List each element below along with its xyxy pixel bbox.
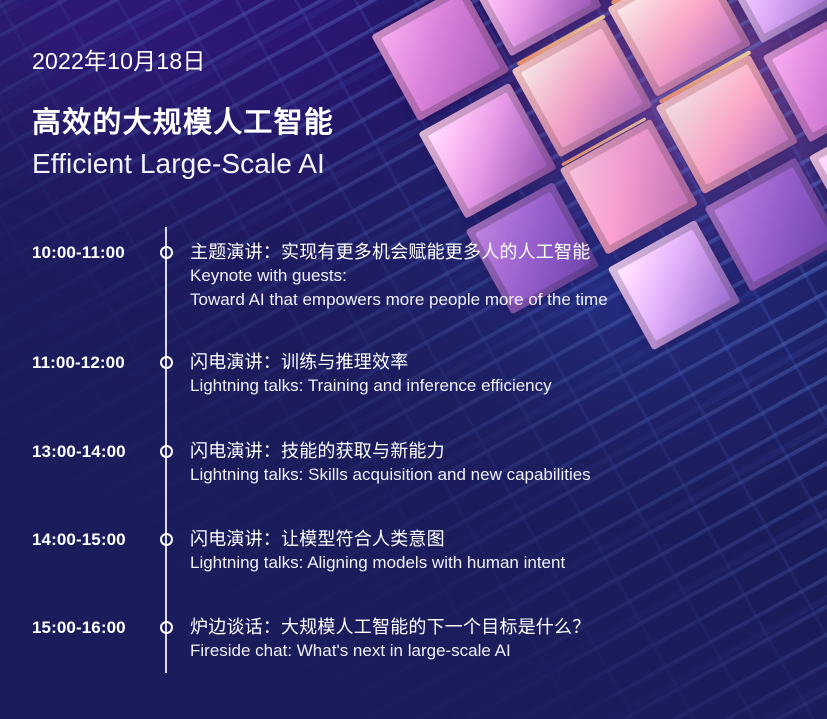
schedule-details: 主题演讲：实现有更多机会赋能更多人的人工智能 Keynote with gues… [190, 240, 810, 312]
timeline-dot-icon [160, 621, 173, 634]
schedule-time: 15:00-16:00 [32, 618, 126, 638]
schedule-timeline: 10:00-11:00 主题演讲：实现有更多机会赋能更多人的人工智能 Keyno… [0, 0, 827, 719]
schedule-title-english-line: Fireside chat: What's next in large-scal… [190, 639, 810, 663]
schedule-title-chinese: 炉边谈话：大规模人工智能的下一个目标是什么？ [190, 615, 810, 639]
schedule-title-english-line: Lightning talks: Aligning models with hu… [190, 551, 810, 575]
schedule-title-english-line: Toward AI that empowers more people more… [190, 288, 810, 312]
schedule-details: 闪电演讲：训练与推理效率 Lightning talks: Training a… [190, 350, 810, 398]
schedule-title-english-line: Lightning talks: Skills acquisition and … [190, 463, 810, 487]
schedule-details: 闪电演讲：技能的获取与新能力 Lightning talks: Skills a… [190, 439, 810, 487]
schedule-time: 13:00-14:00 [32, 442, 126, 462]
timeline-dot-icon [160, 445, 173, 458]
timeline-dot-icon [160, 246, 173, 259]
schedule-time: 10:00-11:00 [32, 243, 125, 263]
schedule-time: 11:00-12:00 [32, 353, 125, 373]
schedule-title-english-line: Keynote with guests: [190, 264, 810, 288]
schedule-title-chinese: 主题演讲：实现有更多机会赋能更多人的人工智能 [190, 240, 810, 264]
schedule-details: 炉边谈话：大规模人工智能的下一个目标是什么？ Fireside chat: Wh… [190, 615, 810, 663]
schedule-details: 闪电演讲：让模型符合人类意图 Lightning talks: Aligning… [190, 527, 810, 575]
schedule-title-english-line: Lightning talks: Training and inference … [190, 374, 810, 398]
timeline-dot-icon [160, 533, 173, 546]
timeline-dot-icon [160, 356, 173, 369]
schedule-title-chinese: 闪电演讲：训练与推理效率 [190, 350, 810, 374]
event-poster: 2022年10月18日 高效的大规模人工智能 Efficient Large-S… [0, 0, 827, 719]
schedule-time: 14:00-15:00 [32, 530, 126, 550]
schedule-title-chinese: 闪电演讲：技能的获取与新能力 [190, 439, 810, 463]
schedule-title-chinese: 闪电演讲：让模型符合人类意图 [190, 527, 810, 551]
